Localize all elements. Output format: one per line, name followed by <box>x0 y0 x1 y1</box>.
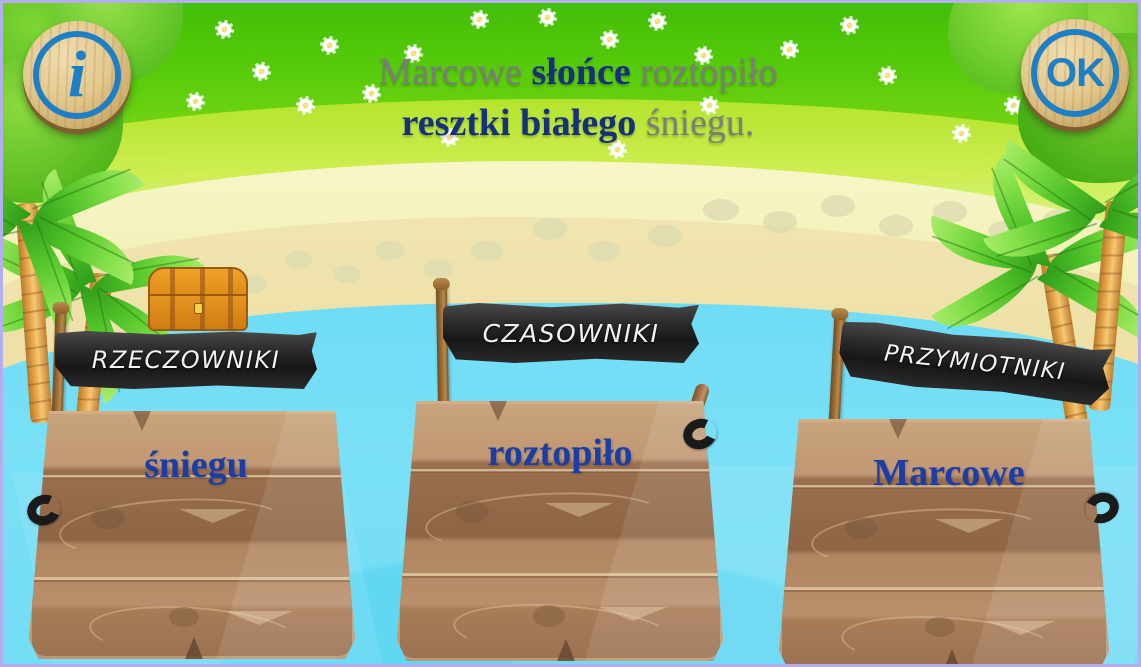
flag-label-1: RZECZOWNIKI <box>92 346 280 374</box>
sand-stone <box>423 259 453 278</box>
daisy-icon <box>473 13 486 26</box>
info-icon: i <box>23 21 131 129</box>
raft-hull <box>397 401 723 661</box>
sand-stone <box>763 211 797 233</box>
sentence-word-roztopiło: roztopiło <box>640 51 777 93</box>
sand-stone <box>471 241 503 261</box>
ok-button[interactable]: OK <box>1021 19 1129 127</box>
flag-cloth-1: RZECZOWNIKI <box>55 331 317 389</box>
daisy-icon <box>651 15 664 28</box>
sentence-word-słońce: słońce <box>532 51 631 93</box>
sand-stone <box>648 225 682 247</box>
sentence-word-marcowe: Marcowe <box>379 51 522 93</box>
raft-hull <box>29 411 355 659</box>
sentence-word-śniegu: śniegu. <box>646 102 755 144</box>
sand-stone <box>375 241 405 260</box>
daisy-icon <box>1007 99 1020 112</box>
sand-stone <box>588 241 620 261</box>
game-stage: Marcowe słońce roztopiło resztki białego… <box>0 0 1141 667</box>
flag-label-3: PRZYMIOTNIKI <box>883 341 1067 386</box>
sand-stone <box>879 215 913 237</box>
flag-czasowniki[interactable]: CZASOWNIKI <box>443 303 699 363</box>
flag-rzeczowniki[interactable]: RZECZOWNIKI <box>55 331 317 389</box>
sand-stone <box>285 251 313 269</box>
sand-stone <box>703 199 739 221</box>
sentence-word-białego: białego <box>520 102 636 144</box>
daisy-icon <box>603 33 616 46</box>
daisy-icon <box>843 19 856 32</box>
ok-icon: OK <box>1021 19 1129 127</box>
sentence-line-2: resztki białego śniegu. <box>183 98 973 149</box>
sand-stone <box>821 195 855 217</box>
sentence-line-1: Marcowe słońce roztopiło <box>183 47 973 98</box>
daisy-icon <box>218 23 231 36</box>
flag-label-2: CZASOWNIKI <box>483 319 660 348</box>
raft-hull <box>779 419 1109 667</box>
daisy-icon <box>999 47 1012 60</box>
sentence-prompt: Marcowe słońce roztopiło resztki białego… <box>183 47 973 149</box>
sand-stone <box>333 265 361 283</box>
daisy-icon <box>541 11 554 24</box>
flag-cloth-2: CZASOWNIKI <box>443 303 699 363</box>
info-button[interactable]: i <box>23 21 131 129</box>
sand-stone <box>533 218 567 240</box>
sentence-word-resztki: resztki <box>402 102 511 144</box>
